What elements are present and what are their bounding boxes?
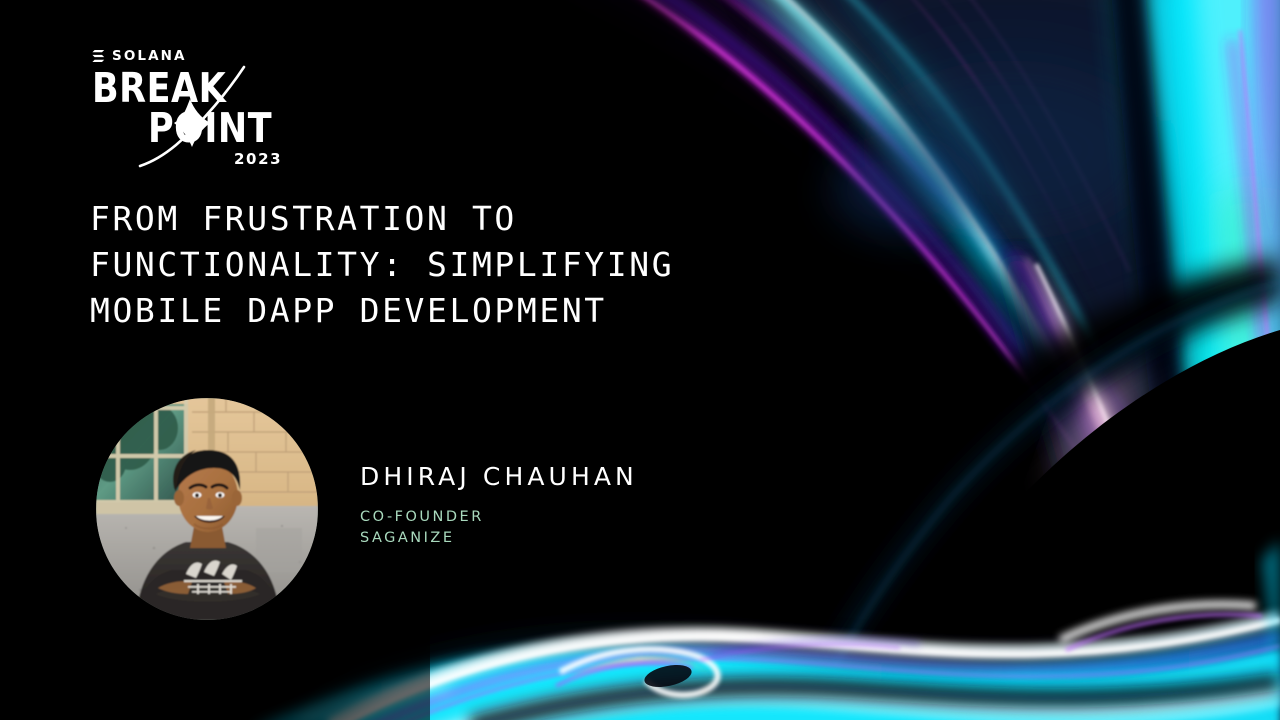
solana-wordmark-row: SOLANA: [92, 48, 292, 64]
title-line-2: FUNCTIONALITY: SIMPLIFYING: [90, 242, 950, 288]
breakpoint-year-text: 2023: [234, 152, 282, 167]
breakpoint-lockup: BREAK POINT 2023: [92, 69, 292, 149]
breakpoint-point-text: POINT: [148, 109, 272, 150]
solana-wordmark-text: SOLANA: [112, 49, 187, 63]
speaker-avatar-photo: [96, 398, 318, 620]
talk-title: FROM FRUSTRATION TO FUNCTIONALITY: SIMPL…: [90, 196, 950, 334]
title-line-1: FROM FRUSTRATION TO: [90, 196, 950, 242]
speaker-role: CO-FOUNDER: [360, 507, 638, 528]
breakpoint-break-text: BREAK: [92, 69, 226, 110]
solana-bars-icon: [92, 49, 105, 63]
title-line-3: MOBILE DAPP DEVELOPMENT: [90, 288, 950, 334]
speaker-organization: SAGANIZE: [360, 528, 638, 549]
solana-breakpoint-2023-logo: SOLANA BREAK POINT 2023: [92, 48, 292, 149]
speaker-name: DHIRAJ CHAUHAN: [360, 462, 638, 492]
speaker-info: DHIRAJ CHAUHAN CO-FOUNDER SAGANIZE: [360, 462, 638, 549]
talk-title-slide: SOLANA BREAK POINT 2023 FROM FRUSTRATION…: [0, 0, 1280, 720]
